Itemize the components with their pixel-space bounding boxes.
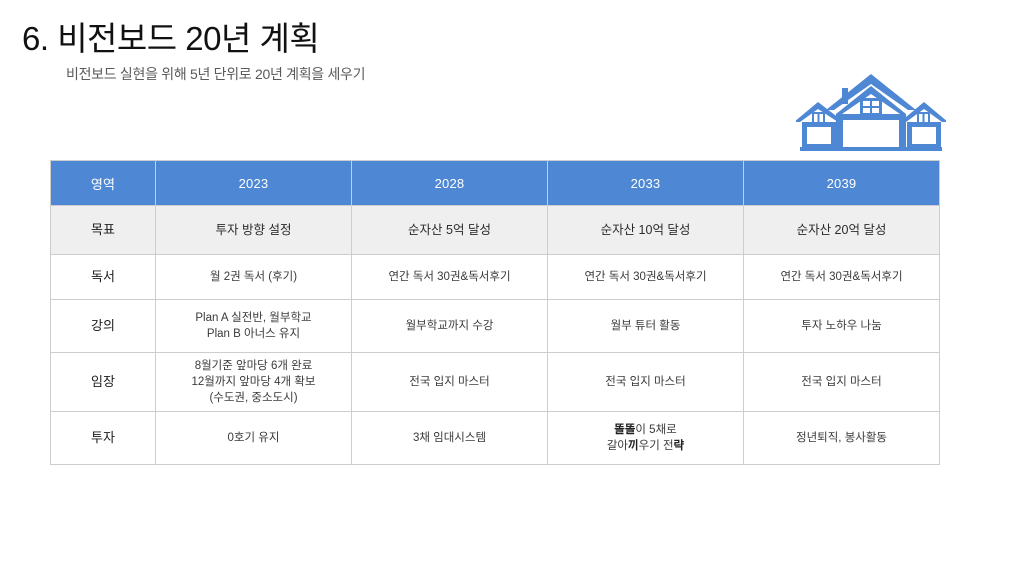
- cell-line: 투자 노하우 나눔: [750, 318, 933, 334]
- cell-text-run: 똘똘: [614, 424, 635, 436]
- cell-임장-2023: 8월기준 앞마당 6개 완료12월까지 앞마당 4개 확보(수도권, 중소도시): [156, 353, 352, 412]
- cell-line: Plan A 실전반, 월부학교: [162, 310, 345, 326]
- cell-line: 갈아끼우기 전략: [554, 438, 737, 454]
- cell-line: 투자 방향 설정: [162, 222, 345, 238]
- cell-임장-2033: 전국 입지 마스터: [548, 353, 744, 412]
- cell-line: 연간 독서 30권&독서후기: [750, 269, 933, 285]
- cell-line: 순자산 10억 달성: [554, 222, 737, 238]
- table-row: 투자0호기 유지3채 임대시스템똘똘이 5채로갈아끼우기 전략정년퇴직, 봉사활…: [51, 412, 940, 465]
- row-label-투자: 투자: [51, 412, 156, 465]
- cell-line: Plan B 아너스 유지: [162, 326, 345, 342]
- cell-text-run: 갈아: [607, 440, 628, 452]
- cell-투자-2023: 0호기 유지: [156, 412, 352, 465]
- cell-임장-2039: 전국 입지 마스터: [744, 353, 940, 412]
- table-header-row: 영역2023202820332039: [51, 161, 940, 206]
- table-row: 목표투자 방향 설정순자산 5억 달성순자산 10억 달성순자산 20억 달성: [51, 206, 940, 255]
- cell-독서-2039: 연간 독서 30권&독서후기: [744, 255, 940, 300]
- cell-강의-2028: 월부학교까지 수강: [352, 300, 548, 353]
- title-block: 6. 비전보드 20년 계획 비전보드 실현을 위해 5년 단위로 20년 계획…: [22, 18, 662, 84]
- cell-목표-2039: 순자산 20억 달성: [744, 206, 940, 255]
- cell-line: 순자산 5억 달성: [358, 222, 541, 238]
- cell-목표-2033: 순자산 10억 달성: [548, 206, 744, 255]
- cell-line: 12월까지 앞마당 4개 확보: [162, 374, 345, 390]
- row-label-임장: 임장: [51, 353, 156, 412]
- cell-독서-2023: 월 2권 독서 (후기): [156, 255, 352, 300]
- table-body: 목표투자 방향 설정순자산 5억 달성순자산 10억 달성순자산 20억 달성독…: [51, 206, 940, 465]
- cell-line: 정년퇴직, 봉사활동: [750, 430, 933, 446]
- table-header: 영역2023202820332039: [51, 161, 940, 206]
- three-houses-icon: [796, 72, 946, 156]
- cell-투자-2033: 똘똘이 5채로갈아끼우기 전략: [548, 412, 744, 465]
- cell-line: 8월기준 앞마당 6개 완료: [162, 358, 345, 374]
- cell-text-run: 략: [674, 440, 685, 452]
- plan-table-container: 영역2023202820332039 목표투자 방향 설정순자산 5억 달성순자…: [50, 160, 940, 465]
- cell-line: 연간 독서 30권&독서후기: [358, 269, 541, 285]
- cell-line: 순자산 20억 달성: [750, 222, 933, 238]
- cell-line: 똘똘이 5채로: [554, 422, 737, 438]
- table-header-year-2039: 2039: [744, 161, 940, 206]
- cell-목표-2028: 순자산 5억 달성: [352, 206, 548, 255]
- table-header-year-2023: 2023: [156, 161, 352, 206]
- page-subtitle: 비전보드 실현을 위해 5년 단위로 20년 계획을 세우기: [66, 64, 662, 84]
- cell-line: 월부학교까지 수강: [358, 318, 541, 334]
- cell-line: 월부 튜터 활동: [554, 318, 737, 334]
- cell-투자-2028: 3채 임대시스템: [352, 412, 548, 465]
- cell-line: 전국 입지 마스터: [554, 374, 737, 390]
- table-header-year-2028: 2028: [352, 161, 548, 206]
- cell-line: 전국 입지 마스터: [750, 374, 933, 390]
- table-row: 강의Plan A 실전반, 월부학교Plan B 아너스 유지월부학교까지 수강…: [51, 300, 940, 353]
- table-header-year-2033: 2033: [548, 161, 744, 206]
- cell-목표-2023: 투자 방향 설정: [156, 206, 352, 255]
- row-label-강의: 강의: [51, 300, 156, 353]
- cell-강의-2039: 투자 노하우 나눔: [744, 300, 940, 353]
- cell-line: 3채 임대시스템: [358, 430, 541, 446]
- cell-투자-2039: 정년퇴직, 봉사활동: [744, 412, 940, 465]
- cell-line: 전국 입지 마스터: [358, 374, 541, 390]
- cell-독서-2033: 연간 독서 30권&독서후기: [548, 255, 744, 300]
- cell-text-run: 끼: [628, 440, 639, 452]
- cell-강의-2033: 월부 튜터 활동: [548, 300, 744, 353]
- table-header-area: 영역: [51, 161, 156, 206]
- cell-임장-2028: 전국 입지 마스터: [352, 353, 548, 412]
- cell-line: 월 2권 독서 (후기): [162, 269, 345, 285]
- row-label-목표: 목표: [51, 206, 156, 255]
- cell-독서-2028: 연간 독서 30권&독서후기: [352, 255, 548, 300]
- row-label-독서: 독서: [51, 255, 156, 300]
- plan-table: 영역2023202820332039 목표투자 방향 설정순자산 5억 달성순자…: [50, 160, 940, 465]
- cell-text-run: 우기 전: [639, 440, 674, 452]
- cell-line: 0호기 유지: [162, 430, 345, 446]
- table-row: 임장8월기준 앞마당 6개 완료12월까지 앞마당 4개 확보(수도권, 중소도…: [51, 353, 940, 412]
- page-title: 6. 비전보드 20년 계획: [22, 18, 662, 60]
- cell-강의-2023: Plan A 실전반, 월부학교Plan B 아너스 유지: [156, 300, 352, 353]
- cell-text-run: 이 5채로: [635, 424, 676, 436]
- table-row: 독서월 2권 독서 (후기)연간 독서 30권&독서후기연간 독서 30권&독서…: [51, 255, 940, 300]
- cell-line: (수도권, 중소도시): [162, 390, 345, 406]
- cell-line: 연간 독서 30권&독서후기: [554, 269, 737, 285]
